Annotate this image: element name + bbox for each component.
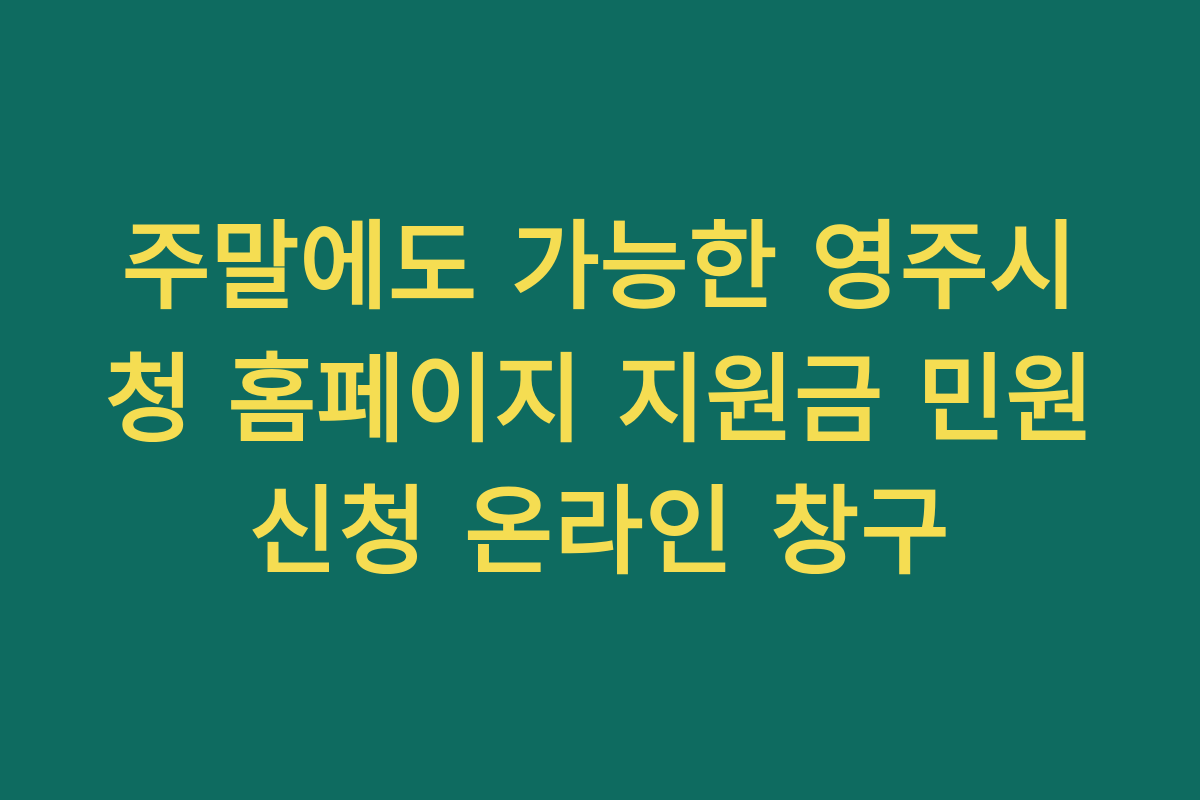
headline-line-3: 신청 온라인 창구 [80, 466, 1120, 598]
headline: 주말에도 가능한 영주시 청 홈페이지 지원금 민원 신청 온라인 창구 [80, 201, 1120, 598]
headline-line-2: 청 홈페이지 지원금 민원 [80, 334, 1120, 466]
title-card: 주말에도 가능한 영주시 청 홈페이지 지원금 민원 신청 온라인 창구 [0, 0, 1200, 800]
headline-line-1: 주말에도 가능한 영주시 [80, 201, 1120, 333]
